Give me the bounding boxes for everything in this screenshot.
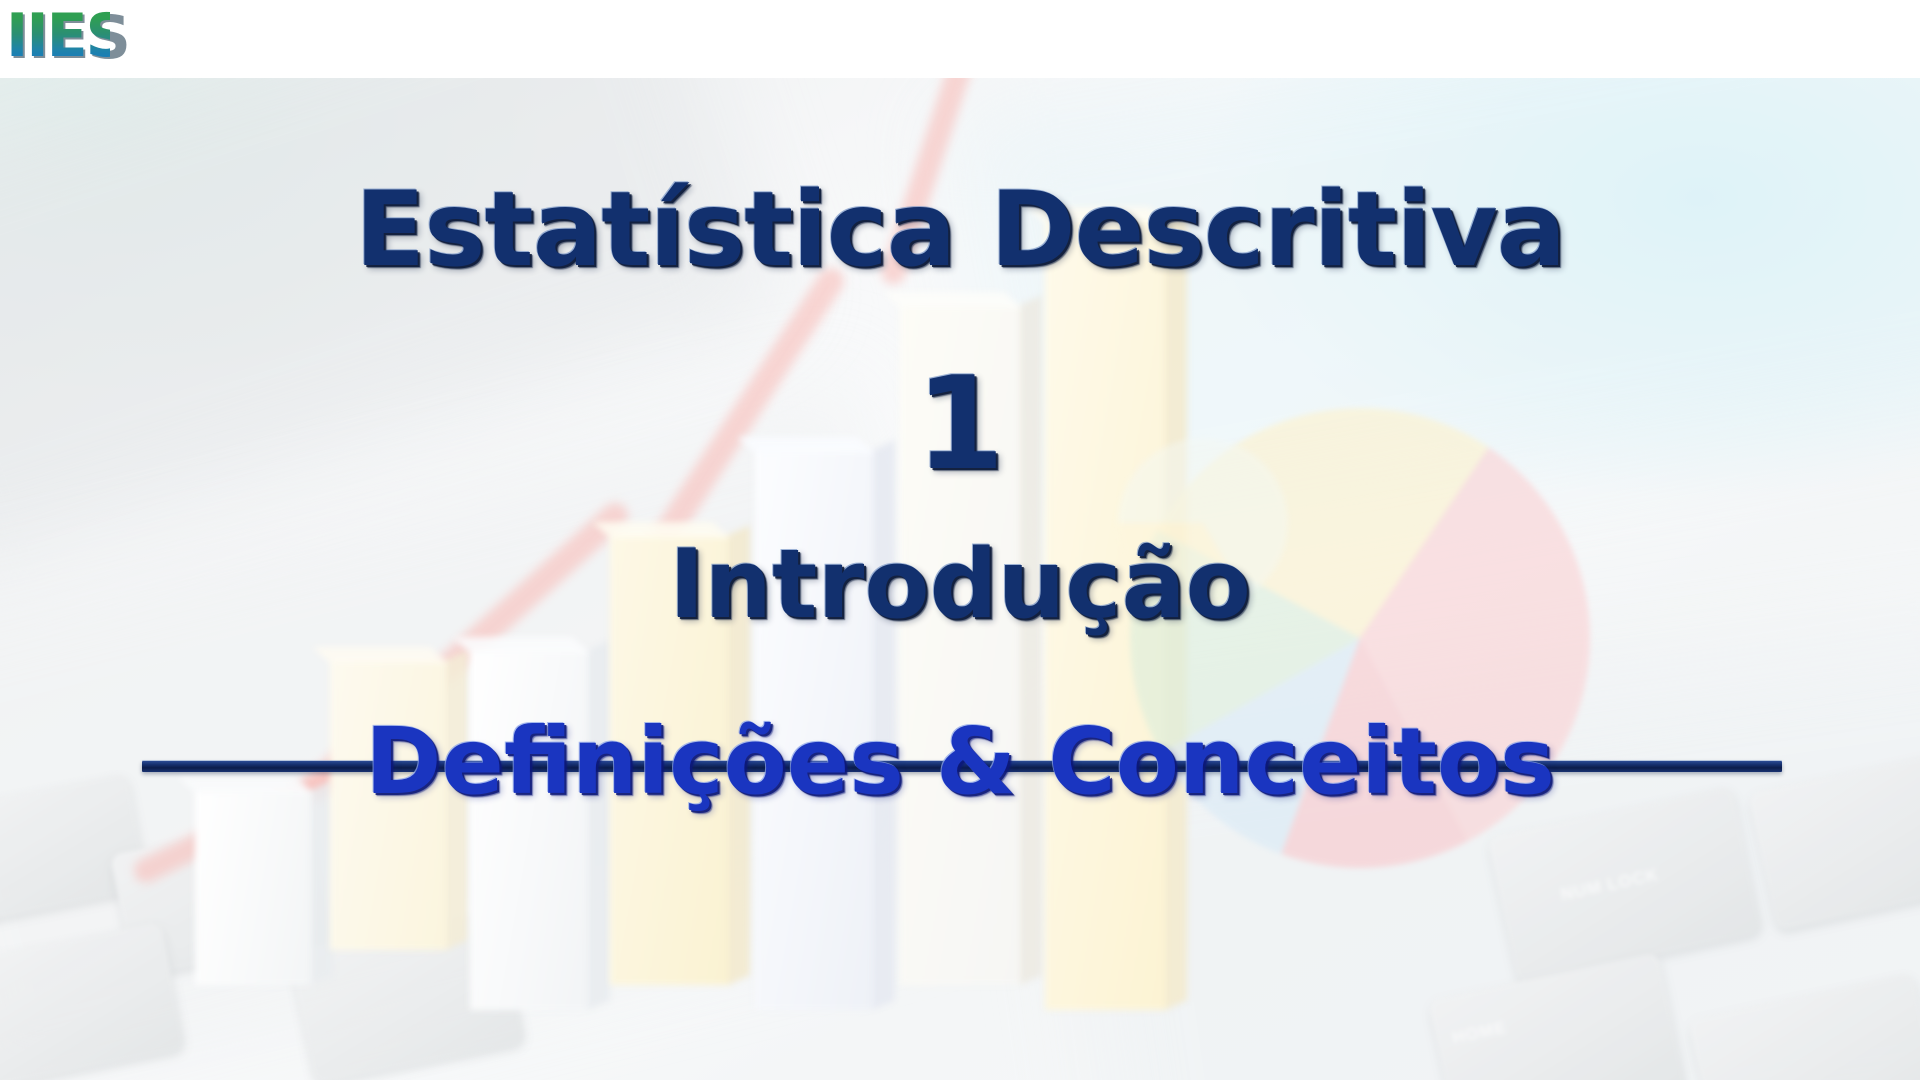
slide-subtitle: Introdução [0,530,1920,640]
slide-root: NUM LOCK HOME [0,0,1920,1080]
header-band: IIES IIES [0,0,1920,78]
slide-title: Estatística Descritiva [0,170,1920,290]
chapter-number: 1 [0,350,1920,499]
slide-tagline: Definições & Conceitos [0,708,1920,815]
iies-logo: IIES [6,7,110,67]
slide-content: Estatística Descritiva 1 Introdução Defi… [0,78,1920,1080]
